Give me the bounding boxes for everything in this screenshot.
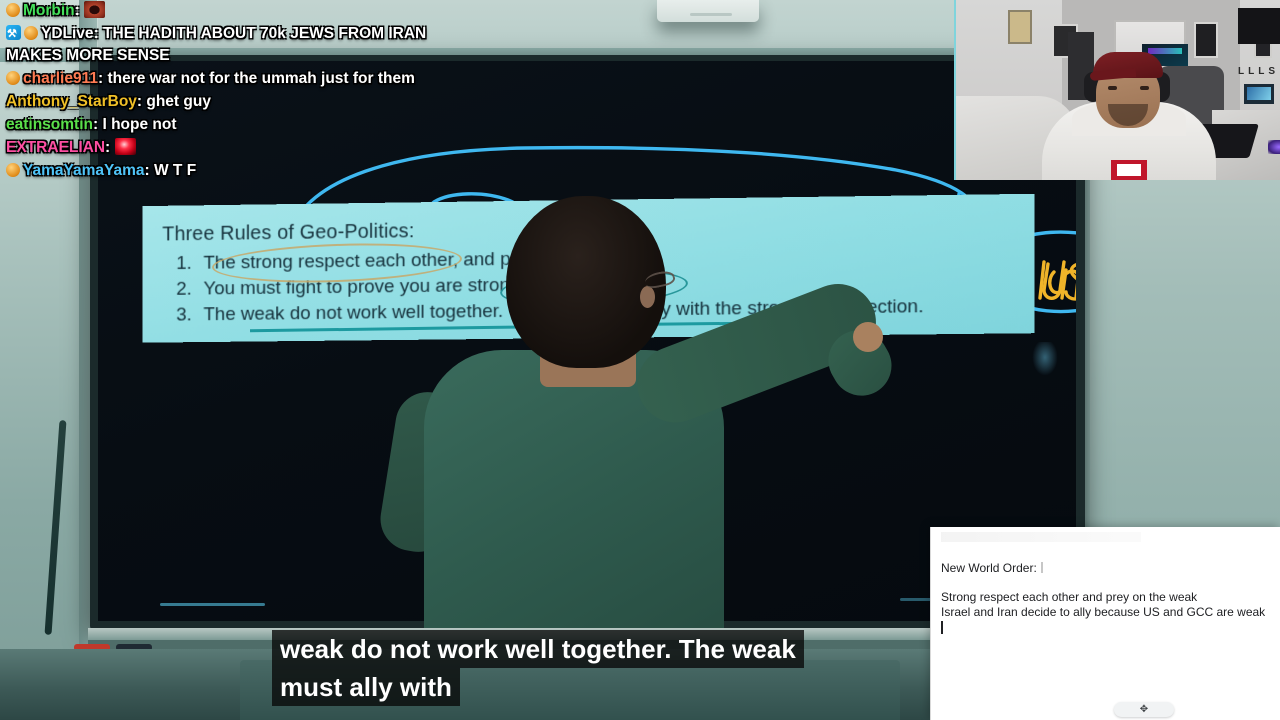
cam-picture-frame [1008,10,1032,44]
slide-rule-number: 2. [162,277,203,303]
subtitle-row: weak do not work well together. The weak [272,630,892,668]
chat-text: I hope not [102,116,176,133]
slide-rule-number: 1. [162,251,203,277]
cam-rgb-light [1268,140,1280,154]
teacher-head [506,196,666,368]
sub-badge-icon [6,3,20,17]
twitch-chat-overlay[interactable]: Morbin: YDLive: THE HADITH ABOUT 70k JEW… [0,0,470,183]
slide-rule-number: 3. [162,302,203,328]
morbin-emote-icon [84,1,105,18]
streamer-eye-right [1140,86,1149,90]
subtitle-line: weak do not work well together. The weak [272,630,804,668]
chat-message: EXTRAELIAN: [6,137,464,160]
subtitle-row: must ally with [272,668,892,706]
chat-message: YDLive: THE HADITH ABOUT 70k JEWS FROM I… [6,23,464,68]
sub-badge-icon [6,71,20,85]
sub-badge-icon [6,163,20,177]
chat-username[interactable]: EXTRAELIAN [6,139,105,156]
cam-laptop-screen [1247,87,1271,100]
chat-username[interactable]: charlie911 [23,70,98,87]
subtitle-line: must ally with [272,668,460,706]
sub-badge-icon [24,26,38,40]
chat-colon: : [94,25,103,42]
notes-heading: New World Order: [941,561,1037,575]
text-cursor-icon [941,621,943,634]
cam-picture-frame [1194,22,1218,58]
cam-wall-letters: LLLS [1238,66,1280,78]
chat-colon: : [137,93,146,110]
air-conditioner-vent [690,13,732,16]
webcam-overlay[interactable]: LLLS [954,0,1280,180]
notes-caret-line[interactable] [941,621,1272,637]
notes-inline-marker [1041,562,1043,573]
chat-message: eatinsomtin: I hope not [6,114,464,137]
chat-message: YamaYamaYama: W T F [6,160,464,183]
chat-username[interactable]: YDLive [41,25,94,42]
chat-message: charlie911: there war not for the ummah … [6,68,464,91]
chat-text: ghet guy [146,93,211,110]
notes-heading-row: New World Order: [941,561,1272,577]
cam-tv-screen [1238,8,1280,44]
chat-username[interactable]: eatinsomtin [6,116,93,133]
marker-reflection [1032,342,1058,376]
slide-title: Three Rules of Geo-Politics: [162,220,414,246]
notes-panel-toolbar-placeholder [941,532,1141,542]
notes-line: Israel and Iran decide to ally because U… [941,605,1272,621]
subtitle-overlay: weak do not work well together. The weak… [272,630,892,706]
teacher-ear [640,286,655,308]
streamer-eye-left [1108,86,1117,90]
chat-text: there war not for the ummah just for the… [107,70,414,87]
chat-username[interactable]: YamaYamaYama [23,162,145,179]
chat-colon: : [105,139,114,156]
cam-monitor-glow [1148,48,1182,54]
red-emote-icon [115,138,136,155]
notes-document[interactable]: New World Order: Strong respect each oth… [941,561,1272,636]
teacher-hand [853,322,883,352]
chat-message: Anthony_StarBoy: ghet guy [6,91,464,114]
notes-panel[interactable]: New World Order: Strong respect each oth… [930,527,1280,720]
notes-move-handle-button[interactable]: ✥ [1114,702,1174,717]
chat-text: W T F [154,162,196,179]
stream-viewport: Three Rules of Geo-Politics: 1. The stro… [0,0,1280,720]
air-conditioner [657,0,759,22]
chat-colon: : [75,2,84,19]
board-light-streak [160,603,265,606]
chat-username[interactable]: Morbin [23,2,75,19]
hoodie-logo-inner [1117,164,1141,176]
notes-line: Strong respect each other and prey on th… [941,590,1272,606]
slide-rule-text: You must fight to prove you are strong. [203,273,525,303]
chat-message: Morbin: [6,0,464,23]
chat-username[interactable]: Anthony_StarBoy [6,93,137,110]
chat-colon: : [145,162,154,179]
moderator-badge-icon [6,25,21,40]
